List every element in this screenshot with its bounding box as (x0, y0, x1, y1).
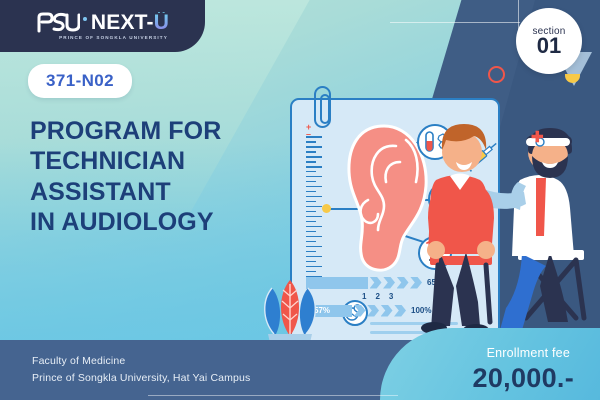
enrollment-fee-amount: 20,000.- (473, 363, 574, 394)
footer-line-2: Prince of Songkla University, Hat Yai Ca… (32, 370, 250, 386)
red-ring-icon (488, 66, 505, 83)
course-banner: NEXT-Ü PRINCE OF SONGKLA UNIVERSITY 371-… (0, 0, 600, 400)
red-plus-icon: ✚ (531, 130, 544, 145)
status-badge: section 01 (516, 8, 582, 74)
psu-monogram-icon (36, 12, 80, 33)
scale-marker-dot-icon (322, 204, 331, 213)
people-illustration (400, 104, 600, 354)
step-number-3: 3 (389, 292, 393, 301)
chevron-icon (370, 277, 382, 289)
title-line-4: IN AUDIOLOGY (30, 207, 310, 237)
footer-text: Faculty of Medicine Prince of Songkla Un… (32, 353, 250, 386)
course-code-text: 371-N02 (46, 71, 114, 90)
brand-logo-row: NEXT-Ü (36, 12, 169, 33)
section-badge-number: 01 (537, 35, 561, 57)
step-number-2: 2 (375, 292, 379, 301)
brand-logo-plate: NEXT-Ü PRINCE OF SONGKLA UNIVERSITY (0, 0, 205, 52)
brand-wordmark: NEXT-Ü (91, 12, 169, 33)
step-number-1: 1 (362, 292, 366, 301)
enrollment-fee-label: Enrollment fee (487, 346, 570, 360)
page-title: PROGRAM FOR TECHNICIAN ASSISTANT IN AUDI… (30, 116, 310, 237)
course-code-pill: 371-N02 (28, 64, 132, 98)
patient-figure (421, 124, 495, 336)
brand-subtitle: PRINCE OF SONGKLA UNIVERSITY (59, 35, 168, 40)
chevron-icon (354, 305, 366, 317)
chevron-icon (367, 305, 379, 317)
chevron-icon (381, 305, 393, 317)
footer-line-1: Faculty of Medicine (32, 353, 250, 369)
title-line-3: ASSISTANT (30, 177, 310, 207)
footer-rule (148, 395, 398, 397)
brand-wordmark-text: NEXT- (91, 11, 154, 34)
title-line-1: PROGRAM FOR (30, 116, 310, 146)
deco-hline-top (390, 22, 520, 23)
brand-wordmark-u: Ü (154, 12, 169, 33)
paperclip-icon (314, 86, 331, 128)
title-line-2: TECHNICIAN (30, 146, 310, 176)
logo-dot-icon (83, 17, 87, 21)
chevron-icon (383, 277, 395, 289)
